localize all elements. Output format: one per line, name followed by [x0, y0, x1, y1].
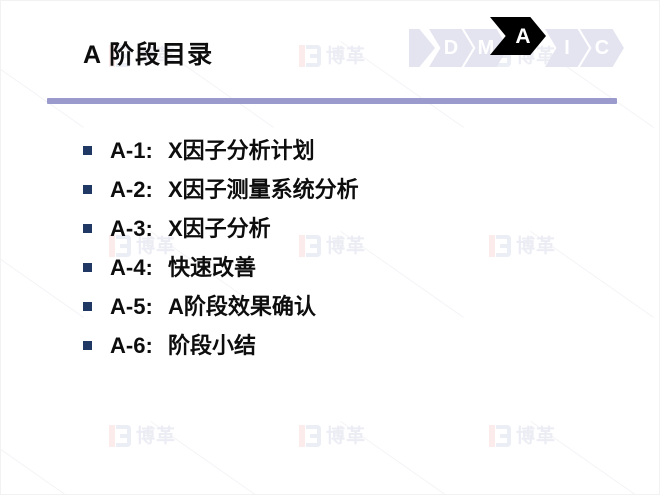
watermark-diagonal: [0, 421, 84, 495]
dmaic-chevron-lead: [409, 29, 435, 67]
title-divider: [47, 98, 617, 104]
agenda-list: A-1:X因子分析计划 A-2:X因子测量系统分析 A-3:X因子分析 A-4:…: [83, 131, 603, 365]
list-item[interactable]: A-1:X因子分析计划: [83, 131, 603, 170]
brand-watermark-text: 博革: [326, 47, 366, 66]
agenda-item-label: 快速改善: [168, 255, 256, 280]
agenda-item-label: X因子测量系统分析: [168, 177, 359, 202]
dmaic-chevron-d[interactable]: D: [429, 29, 473, 67]
agenda-item-text: A-2:X因子测量系统分析: [110, 179, 359, 201]
bullet-square-icon: [83, 302, 92, 311]
watermark-diagonal: [0, 231, 84, 318]
bullet-square-icon: [83, 185, 92, 194]
agenda-item-label: A阶段效果确认: [168, 294, 316, 319]
dmaic-chevron-i[interactable]: I: [545, 29, 589, 67]
agenda-item-label: X因子分析: [168, 216, 271, 241]
brand-watermark: 博革: [299, 45, 366, 67]
watermark-diagonal: [150, 421, 273, 495]
agenda-item-code: A-2:: [110, 179, 168, 201]
list-item[interactable]: A-3:X因子分析: [83, 209, 603, 248]
agenda-item-text: A-3:X因子分析: [110, 218, 271, 240]
brand-logo-icon: [489, 425, 511, 447]
agenda-item-code: A-4:: [110, 257, 168, 279]
agenda-item-code: A-3:: [110, 218, 168, 240]
brand-watermark: 博革: [299, 425, 366, 447]
brand-watermark: 博革: [109, 425, 176, 447]
agenda-item-label: X因子分析计划: [168, 138, 315, 163]
agenda-item-text: A-5:A阶段效果确认: [110, 296, 316, 318]
watermark-diagonal: [340, 421, 463, 495]
list-item[interactable]: A-4:快速改善: [83, 248, 603, 287]
brand-watermark: 博革: [489, 425, 556, 447]
agenda-item-code: A-6:: [110, 335, 168, 357]
bullet-square-icon: [83, 224, 92, 233]
agenda-item-text: A-6:阶段小结: [110, 335, 256, 357]
brand-watermark-text: 博革: [516, 427, 556, 446]
list-item[interactable]: A-6:阶段小结: [83, 326, 603, 365]
agenda-item-code: A-1:: [110, 140, 168, 162]
page-title: A 阶段目录: [83, 39, 213, 72]
watermark-diagonal: [530, 421, 653, 495]
brand-logo-icon: [299, 45, 321, 67]
agenda-item-text: A-1:X因子分析计划: [110, 140, 315, 162]
brand-watermark-text: 博革: [326, 427, 366, 446]
slide-canvas: 博革 博革 博革 博革 博革 博革 博革 博革: [0, 0, 660, 495]
brand-logo-icon: [299, 425, 321, 447]
brand-watermark-text: 博革: [136, 427, 176, 446]
bullet-square-icon: [83, 146, 92, 155]
watermark-diagonal: [0, 41, 84, 128]
agenda-item-label: 阶段小结: [168, 333, 256, 358]
list-item[interactable]: A-5:A阶段效果确认: [83, 287, 603, 326]
list-item[interactable]: A-2:X因子测量系统分析: [83, 170, 603, 209]
agenda-item-code: A-5:: [110, 296, 168, 318]
bullet-square-icon: [83, 263, 92, 272]
bullet-square-icon: [83, 341, 92, 350]
brand-logo-icon: [109, 425, 131, 447]
agenda-item-text: A-4:快速改善: [110, 257, 256, 279]
